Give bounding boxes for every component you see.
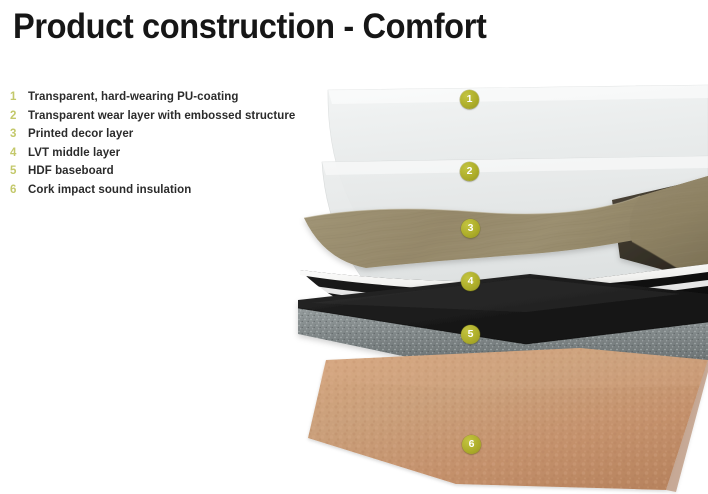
layers-illustration — [280, 72, 708, 494]
diagram-badge-1[interactable]: 1 — [460, 90, 479, 109]
legend-label: Transparent wear layer with embossed str… — [28, 110, 295, 122]
legend-label: HDF baseboard — [28, 165, 114, 177]
legend-number: 6 — [7, 184, 28, 196]
product-construction-diagram: 1 2 3 4 5 6 — [280, 72, 708, 494]
legend-number: 3 — [7, 128, 28, 140]
diagram-badge-2[interactable]: 2 — [460, 162, 479, 181]
legend-number: 5 — [7, 165, 28, 177]
layer-6-cork-insulation — [308, 348, 708, 492]
legend-number: 2 — [7, 110, 28, 122]
diagram-badge-6[interactable]: 6 — [462, 435, 481, 454]
legend-label: Printed decor layer — [28, 128, 133, 140]
page-title: Product construction - Comfort — [13, 4, 486, 50]
diagram-badge-5[interactable]: 5 — [461, 325, 480, 344]
diagram-badge-3[interactable]: 3 — [461, 219, 480, 238]
diagram-badge-4[interactable]: 4 — [461, 272, 480, 291]
legend-label: LVT middle layer — [28, 147, 120, 159]
legend-number: 1 — [7, 91, 28, 103]
page-root: Product construction - Comfort 1 Transpa… — [0, 0, 708, 494]
legend-label: Cork impact sound insulation — [28, 184, 191, 196]
legend-number: 4 — [7, 147, 28, 159]
legend-label: Transparent, hard-wearing PU-coating — [28, 91, 238, 103]
